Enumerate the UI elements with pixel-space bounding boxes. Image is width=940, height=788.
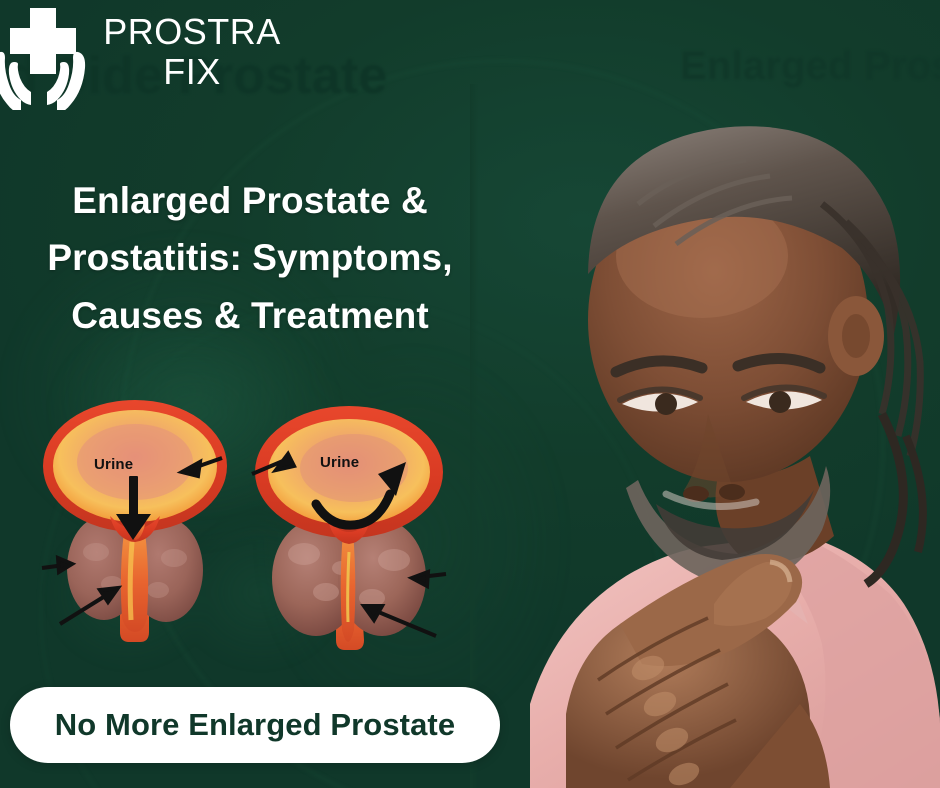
brand-name-line1: PROSTRA — [103, 11, 281, 52]
page-title: Enlarged Prostate & Prostatitis: Symptom… — [0, 172, 500, 344]
brand-logo[interactable]: PROSTRA FIX — [0, 6, 300, 118]
prostate-comparison-diagrams: Urine — [24, 392, 474, 670]
worried-senior-man-photo — [470, 84, 940, 788]
normal-prostate-diagram: Urine — [32, 392, 237, 670]
brand-logo-text: PROSTRA FIX — [92, 12, 292, 93]
watermark-right: Enlarged Pros — [680, 44, 940, 89]
headline-line-1: Enlarged Prostate & — [0, 172, 500, 229]
headline-line-2: Prostatitis: Symptoms, — [0, 229, 500, 286]
brand-name-line2: FIX — [92, 52, 292, 92]
status-badge-label: No More Enlarged Prostate — [55, 707, 455, 743]
poster-canvas: d Side Prostate Enlarged Pros — [0, 0, 940, 788]
urine-label-right: Urine — [320, 454, 359, 471]
urine-label-left: Urine — [94, 456, 133, 473]
headline-line-3: Causes & Treatment — [0, 287, 500, 344]
status-badge[interactable]: No More Enlarged Prostate — [10, 687, 500, 763]
enlarged-prostate-diagram: Urine — [246, 392, 451, 670]
cross-in-hands-icon — [0, 6, 90, 110]
